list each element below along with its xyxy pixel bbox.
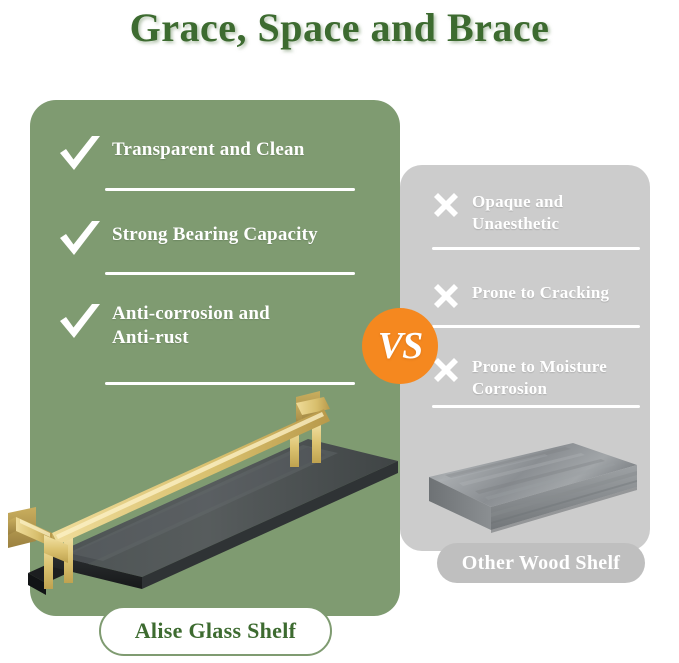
feature-row-strong-bearing-capacity: Strong Bearing Capacity: [58, 217, 318, 259]
feature-row-prone-to-cracking: Prone to Cracking: [430, 278, 609, 312]
feature-label: Prone to Moisture Corrosion: [472, 352, 647, 400]
product-label-text: Other Wood Shelf: [462, 552, 621, 575]
feature-row-transparent-and-clean: Transparent and Clean: [58, 132, 304, 174]
check-icon: [58, 134, 102, 174]
check-icon: [58, 302, 102, 342]
check-icon: [58, 219, 102, 259]
page-title: Grace, Space and Brace: [0, 4, 679, 51]
feature-row-opaque-and-unaesthetic: Opaque and Unaesthetic: [430, 187, 632, 235]
x-icon: [430, 189, 462, 221]
panel-divider: [432, 325, 640, 328]
x-icon: [430, 280, 462, 312]
vs-badge-label: VS: [378, 327, 422, 365]
panel-divider: [105, 188, 355, 191]
feature-row-prone-to-moisture-corrosion: Prone to Moisture Corrosion: [430, 352, 647, 400]
wood-shelf-product-image: [425, 435, 640, 550]
glass-shelf-product-image: [8, 385, 408, 615]
panel-divider: [105, 272, 355, 275]
feature-label: Transparent and Clean: [112, 132, 304, 162]
vs-badge: VS: [362, 308, 438, 384]
feature-label: Anti-corrosion and Anti-rust: [112, 300, 312, 350]
panel-divider: [432, 405, 640, 408]
feature-label: Prone to Cracking: [472, 278, 609, 304]
feature-label: Strong Bearing Capacity: [112, 217, 318, 247]
panel-divider: [432, 247, 640, 250]
product-label-text: Alise Glass Shelf: [135, 618, 297, 644]
product-label-alise-glass-shelf: Alise Glass Shelf: [99, 606, 332, 656]
feature-label: Opaque and Unaesthetic: [472, 187, 632, 235]
feature-row-anti-corrosion-and-anti-rust: Anti-corrosion and Anti-rust: [58, 300, 312, 350]
product-label-other-wood-shelf: Other Wood Shelf: [437, 543, 645, 583]
